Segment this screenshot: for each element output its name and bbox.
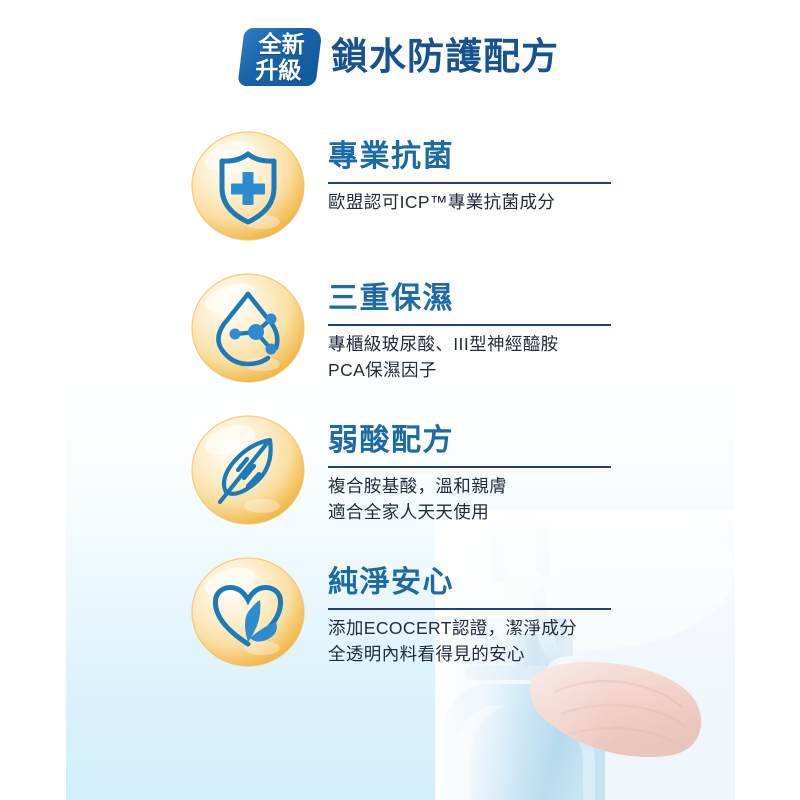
badge-line-1: 全新 [259,31,305,57]
feature-row: 專業抗菌 歐盟認可ICP™專業抗菌成分 [0,128,800,270]
feature-desc-line: 歐盟認可ICP™專業抗菌成分 [328,189,800,215]
feature-desc-line: 適合全家人天天使用 [328,499,800,525]
right-margin [735,0,800,800]
feature-divider [328,466,611,468]
feature-divider [328,608,611,610]
new-upgrade-badge: 全新 升級 [237,28,322,86]
feature-divider [328,324,611,326]
header: 全新 升級 鎖水防護配方 [0,28,800,86]
feature-divider [328,182,611,184]
heart-leaf-icon [190,556,306,668]
feature-title: 專業抗菌 [328,140,800,174]
feather-leaf-icon [190,414,306,526]
feature-desc-line: 添加ECOCERT認證，潔淨成分 [328,615,800,641]
feature-desc-line: 專櫃級玻尿酸、III型神經醯胺 [328,331,800,357]
badge-line-2: 升級 [255,57,301,83]
feature-title: 純淨安心 [328,566,800,600]
feature-row: 純淨安心 添加ECOCERT認證，潔淨成分 全透明內料看得見的安心 [0,554,800,696]
feature-desc-line: 全透明內料看得見的安心 [328,641,800,667]
page-title: 鎖水防護配方 [329,37,559,77]
shield-plus-icon [190,130,306,242]
promo-infographic: 全新 升級 鎖水防護配方 [0,0,800,800]
feature-title: 弱酸配方 [328,424,800,458]
feature-title: 三重保濕 [328,282,800,316]
feature-row: 三重保濕 專櫃級玻尿酸、III型神經醯胺 PCA保濕因子 [0,270,800,412]
feature-list: 專業抗菌 歐盟認可ICP™專業抗菌成分 [0,128,800,696]
feature-desc-line: PCA保濕因子 [328,357,800,383]
feature-desc-line: 複合胺基酸，溫和親膚 [328,473,800,499]
left-margin [0,0,66,800]
feature-row: 弱酸配方 複合胺基酸，溫和親膚 適合全家人天天使用 [0,412,800,554]
water-drop-molecule-icon [190,272,306,384]
